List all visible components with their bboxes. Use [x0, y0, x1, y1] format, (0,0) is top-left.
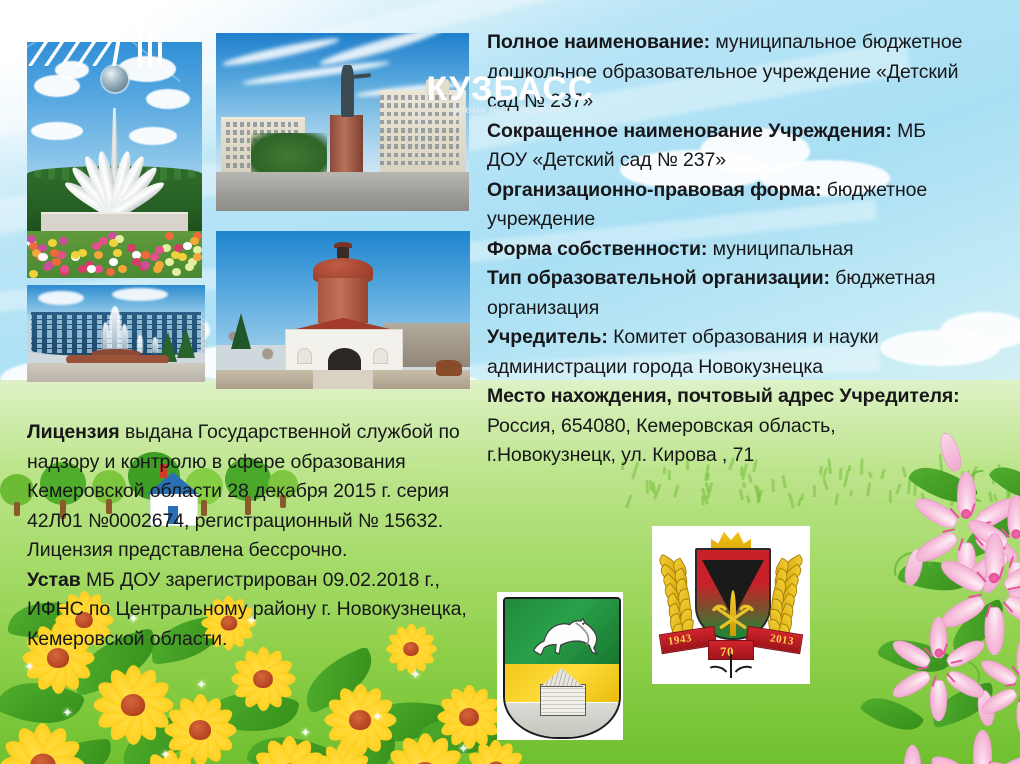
window [408, 136, 412, 141]
flowerbed-dot [99, 237, 108, 245]
detail-line-legal-form: Организационно-правовая форма: бюджетное… [487, 176, 967, 235]
flowerbed-dot [71, 251, 80, 259]
window [387, 128, 391, 133]
window [401, 161, 405, 166]
window [415, 144, 419, 149]
flowerbed-dot [87, 265, 96, 273]
value-charter: МБ ДОУ зарегистрирован 09.02.2018 г., ИФ… [27, 569, 467, 650]
tree-trunk [14, 502, 20, 516]
window [387, 161, 391, 166]
window [288, 122, 292, 127]
lily-core [1011, 529, 1020, 539]
window [456, 153, 460, 158]
flowerbed-dot [155, 261, 164, 269]
window [387, 136, 391, 141]
sunflower-core [253, 670, 273, 688]
flowerbed-dot [38, 244, 47, 252]
lily-petal [904, 744, 921, 764]
lily-flower [880, 748, 945, 764]
window [380, 120, 384, 125]
window [428, 153, 432, 158]
detail-line-founder: Учредитель: Комитет образования и науки … [487, 323, 967, 382]
window [233, 130, 237, 135]
kuzbass-tagline: время быть первыми [0, 104, 1020, 116]
window [435, 153, 439, 158]
flowerbed-dot [141, 261, 150, 269]
window [380, 161, 384, 166]
window [456, 128, 460, 133]
sunflower-core [121, 694, 145, 716]
window [428, 136, 432, 141]
window [435, 161, 439, 166]
grass-tuft [813, 485, 816, 497]
window [401, 136, 405, 141]
scroll-curl-left [703, 663, 731, 687]
sparkle: ✦ [160, 748, 171, 761]
flowerbed-dot [52, 258, 61, 266]
lily-core [989, 573, 1000, 584]
window [240, 130, 244, 135]
window [247, 122, 251, 127]
emblem-stand [730, 654, 732, 678]
window [233, 155, 237, 160]
window [442, 144, 446, 149]
value-founder-address: Россия, 654080, Кемеровская область, г.Н… [487, 415, 836, 467]
window [247, 130, 251, 135]
window [240, 163, 244, 168]
grass-tuft [889, 490, 892, 503]
window [260, 122, 264, 127]
window [233, 147, 237, 152]
label-license: Лицензия [27, 421, 120, 443]
window [408, 120, 412, 125]
sunflower [442, 690, 496, 744]
flowerbed-dot [29, 270, 38, 278]
flowerbed-dot [106, 268, 115, 276]
label-charter: Устав [27, 569, 81, 591]
lily-flower [956, 540, 1020, 616]
window [401, 120, 405, 125]
window [415, 128, 419, 133]
window [456, 161, 460, 166]
window [247, 138, 251, 143]
sunflower [170, 700, 230, 760]
flowerbed-dot [50, 249, 59, 257]
window [449, 128, 453, 133]
window [421, 128, 425, 133]
lily-flower [906, 620, 971, 685]
window [240, 147, 244, 152]
window [442, 128, 446, 133]
window [226, 147, 230, 152]
window [240, 155, 244, 160]
forge-building-icon [535, 668, 590, 714]
value-ownership: муниципальная [707, 238, 853, 260]
window [449, 153, 453, 158]
label-ownership: Форма собственности: [487, 238, 707, 260]
flowerbed-dot [183, 242, 192, 250]
grass-tuft [771, 479, 775, 492]
window [233, 138, 237, 143]
scroll-curl-right [731, 663, 759, 687]
label-short-name: Сокращенное наименование Учреждения: [487, 120, 892, 142]
window [394, 144, 398, 149]
flowerbed-dot [185, 263, 194, 271]
window [226, 130, 230, 135]
sparkle: ✦ [24, 660, 35, 673]
shield-shape [503, 597, 621, 739]
window [408, 144, 412, 149]
window [240, 122, 244, 127]
flowerbed-dot [94, 251, 103, 259]
window [442, 153, 446, 158]
license-charter-text: Лицензия выдана Государственной службой … [27, 418, 467, 654]
window [226, 122, 230, 127]
window [233, 122, 237, 127]
window [394, 153, 398, 158]
window [387, 120, 391, 125]
kuzbass-wordmark: КУЗБАСС [0, 72, 1020, 106]
logo-bar [158, 42, 162, 66]
novokuznetsk-coat-of-arms [497, 592, 623, 740]
sunflower-core [189, 720, 211, 740]
window [394, 161, 398, 166]
window [408, 128, 412, 133]
window [421, 161, 425, 166]
fountain-photo [27, 285, 205, 382]
slide-canvas: ✦✦✦✦✦✦✦✦✦✦ [0, 0, 1020, 764]
window [233, 163, 237, 168]
window [428, 120, 432, 125]
sunflower [470, 744, 521, 764]
window [421, 153, 425, 158]
lily-flower [1000, 742, 1020, 764]
sparkle: ✦ [300, 726, 311, 739]
window [428, 161, 432, 166]
sunflower [8, 730, 77, 764]
window [415, 120, 419, 125]
window [421, 120, 425, 125]
detail-line-org-type: Тип образовательной организации: бюджетн… [487, 264, 967, 323]
window [415, 161, 419, 166]
lenin-monument-photo [216, 33, 469, 211]
logo-bar [138, 18, 142, 66]
logo-bar [148, 30, 152, 66]
window [442, 120, 446, 125]
window [274, 122, 278, 127]
paragraph-charter: Устав МБ ДОУ зарегистрирован 09.02.2018 … [27, 566, 467, 655]
window [380, 128, 384, 133]
sunflower [100, 672, 166, 738]
sparkle: ✦ [410, 668, 421, 681]
sunflower-core [459, 708, 479, 726]
window [449, 144, 453, 149]
lily-core [934, 648, 943, 657]
paragraph-license: Лицензия выдана Государственной службой … [27, 418, 467, 566]
window [267, 122, 271, 127]
window [408, 153, 412, 158]
window [435, 136, 439, 141]
window [401, 144, 405, 149]
window [380, 153, 384, 158]
window [387, 144, 391, 149]
kuznetsk-fortress-photo [216, 231, 470, 389]
flowerbed-dot [113, 249, 122, 257]
window [247, 155, 251, 160]
window [415, 136, 419, 141]
window [428, 144, 432, 149]
flowerbed-dot [29, 242, 38, 250]
lily-flower [994, 640, 1020, 701]
window [226, 155, 230, 160]
window [456, 120, 460, 125]
sparkle: ✦ [196, 678, 207, 691]
grass-tuft [646, 480, 649, 494]
window [401, 153, 405, 158]
window [428, 128, 432, 133]
window [456, 136, 460, 141]
sparkle: ✦ [372, 710, 383, 723]
label-founder: Учредитель: [487, 326, 608, 348]
window [226, 138, 230, 143]
window [408, 161, 412, 166]
flowerbed-dot [141, 251, 150, 259]
window [247, 147, 251, 152]
detail-line-ownership: Форма собственности: муниципальная [487, 235, 967, 265]
window [380, 136, 384, 141]
flowerbed-dot [27, 235, 36, 243]
window [380, 144, 384, 149]
kemerovo-oblast-coat-of-arms: 1943 70 2013 [652, 526, 810, 684]
lily-core [961, 509, 971, 519]
sunflower [258, 742, 321, 764]
window [394, 136, 398, 141]
lily-petal [973, 730, 992, 764]
flowerbed-dot [59, 237, 68, 245]
window [449, 161, 453, 166]
sunflower-core [349, 710, 371, 730]
horse-icon [526, 616, 601, 657]
sunflower [318, 748, 366, 764]
detail-line-short-name: Сокращенное наименование Учреждения: МБ … [487, 117, 967, 176]
window [456, 144, 460, 149]
flowerbed-dot [174, 244, 183, 252]
window [394, 128, 398, 133]
grass-tuft [668, 470, 671, 480]
window [294, 122, 298, 127]
window [435, 128, 439, 133]
window [240, 138, 244, 143]
window [421, 136, 425, 141]
window [442, 136, 446, 141]
detail-line-address-label: Место нахождения, почтовый адрес Учредит… [487, 382, 967, 412]
window [394, 120, 398, 125]
window [442, 161, 446, 166]
window [421, 144, 425, 149]
sparkle: ✦ [62, 706, 73, 719]
window [415, 153, 419, 158]
window [401, 128, 405, 133]
window [387, 153, 391, 158]
window [281, 122, 285, 127]
window [449, 120, 453, 125]
label-founder-address: Место нахождения, почтовый адрес Учредит… [487, 385, 960, 407]
sunflower [236, 652, 290, 706]
window [226, 163, 230, 168]
window [435, 120, 439, 125]
window [247, 163, 251, 168]
window [449, 136, 453, 141]
label-legal-form: Организационно-правовая форма: [487, 179, 821, 201]
window [253, 122, 257, 127]
label-full-name: Полное наименование: [487, 31, 710, 53]
label-org-type: Тип образовательной организации: [487, 267, 830, 289]
window [435, 144, 439, 149]
sparkle: ✦ [458, 742, 469, 755]
flowerbed-dot [172, 268, 181, 276]
detail-line-address-value: Россия, 654080, Кемеровская область, г.Н… [487, 412, 967, 471]
